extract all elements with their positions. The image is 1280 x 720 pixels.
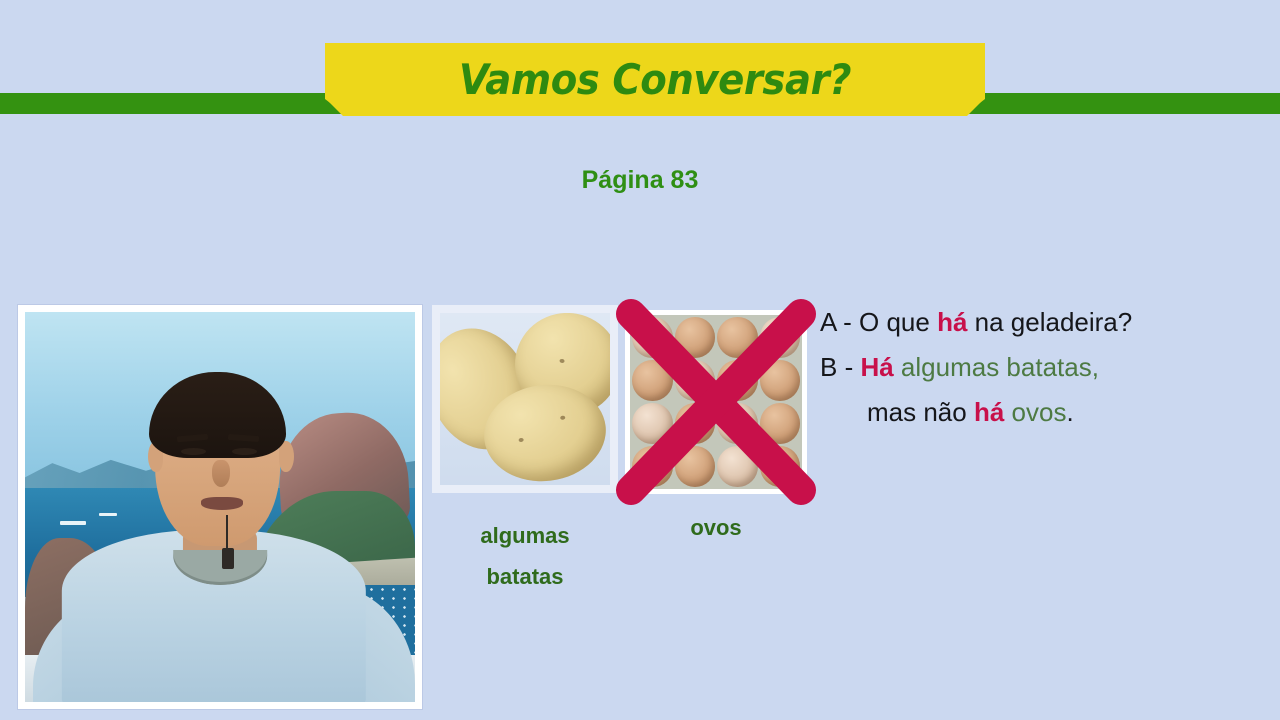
presenter-mic-wire	[226, 515, 228, 550]
egg	[675, 446, 716, 487]
eggs-image-card[interactable]	[625, 310, 807, 494]
egg	[760, 446, 801, 487]
dialogue-text: mas não	[867, 397, 974, 427]
egg	[717, 317, 758, 358]
egg	[632, 317, 673, 358]
caption-line: ovos	[625, 515, 807, 541]
lapel-microphone-icon	[222, 548, 234, 569]
presenter-figure	[25, 312, 415, 702]
dialogue-block: A - O que há na geladeira? B - Há alguma…	[820, 300, 1270, 435]
egg-carton-grid	[630, 315, 802, 489]
egg	[717, 446, 758, 487]
egg	[632, 403, 673, 444]
potato-eye	[519, 438, 524, 443]
egg	[675, 317, 716, 358]
caption-potatoes: algumas batatas	[432, 515, 618, 597]
egg	[717, 403, 758, 444]
dialogue-line-a: A - O que há na geladeira?	[820, 300, 1270, 345]
egg	[717, 360, 758, 401]
egg	[760, 403, 801, 444]
dialogue-text: na geladeira?	[967, 307, 1132, 337]
dialogue-text: ovos	[1004, 397, 1066, 427]
video-content	[25, 312, 415, 702]
potato-eye	[561, 415, 566, 420]
dialogue-text: algumas batatas,	[894, 352, 1099, 382]
highlight-word: Há	[860, 352, 893, 382]
presenter-eye-left	[181, 448, 206, 455]
dialogue-line-b: B - Há algumas batatas,	[820, 345, 1270, 390]
dialogue-text: O que	[859, 307, 937, 337]
egg	[760, 360, 801, 401]
egg	[675, 360, 716, 401]
potato-eye	[559, 359, 565, 364]
presenter-nose	[212, 460, 230, 487]
potatoes-photo	[440, 313, 610, 485]
egg	[632, 446, 673, 487]
dialogue-text: .	[1066, 397, 1073, 427]
speaker-label-b: B -	[820, 352, 860, 382]
egg	[760, 317, 801, 358]
page-number-label: Página 83	[0, 166, 1280, 195]
eggs-photo	[630, 315, 802, 489]
presenter-video-panel[interactable]	[18, 305, 422, 709]
caption-eggs: ovos	[625, 515, 807, 541]
potatoes-image-card[interactable]	[432, 305, 618, 493]
page-title: Vamos Conversar?	[351, 43, 958, 116]
egg	[632, 360, 673, 401]
speaker-label-a: A -	[820, 307, 859, 337]
caption-line: algumas	[432, 515, 618, 556]
highlight-word: há	[974, 397, 1004, 427]
highlight-word: há	[937, 307, 967, 337]
presenter-mouth	[201, 497, 244, 509]
slide: Vamos Conversar? Página 83	[0, 0, 1280, 720]
presenter-eye-right	[232, 448, 257, 455]
presenter-hair	[149, 372, 286, 458]
egg	[675, 403, 716, 444]
dialogue-line-b-cont: mas não há ovos.	[820, 390, 1270, 435]
caption-line: batatas	[432, 556, 618, 597]
